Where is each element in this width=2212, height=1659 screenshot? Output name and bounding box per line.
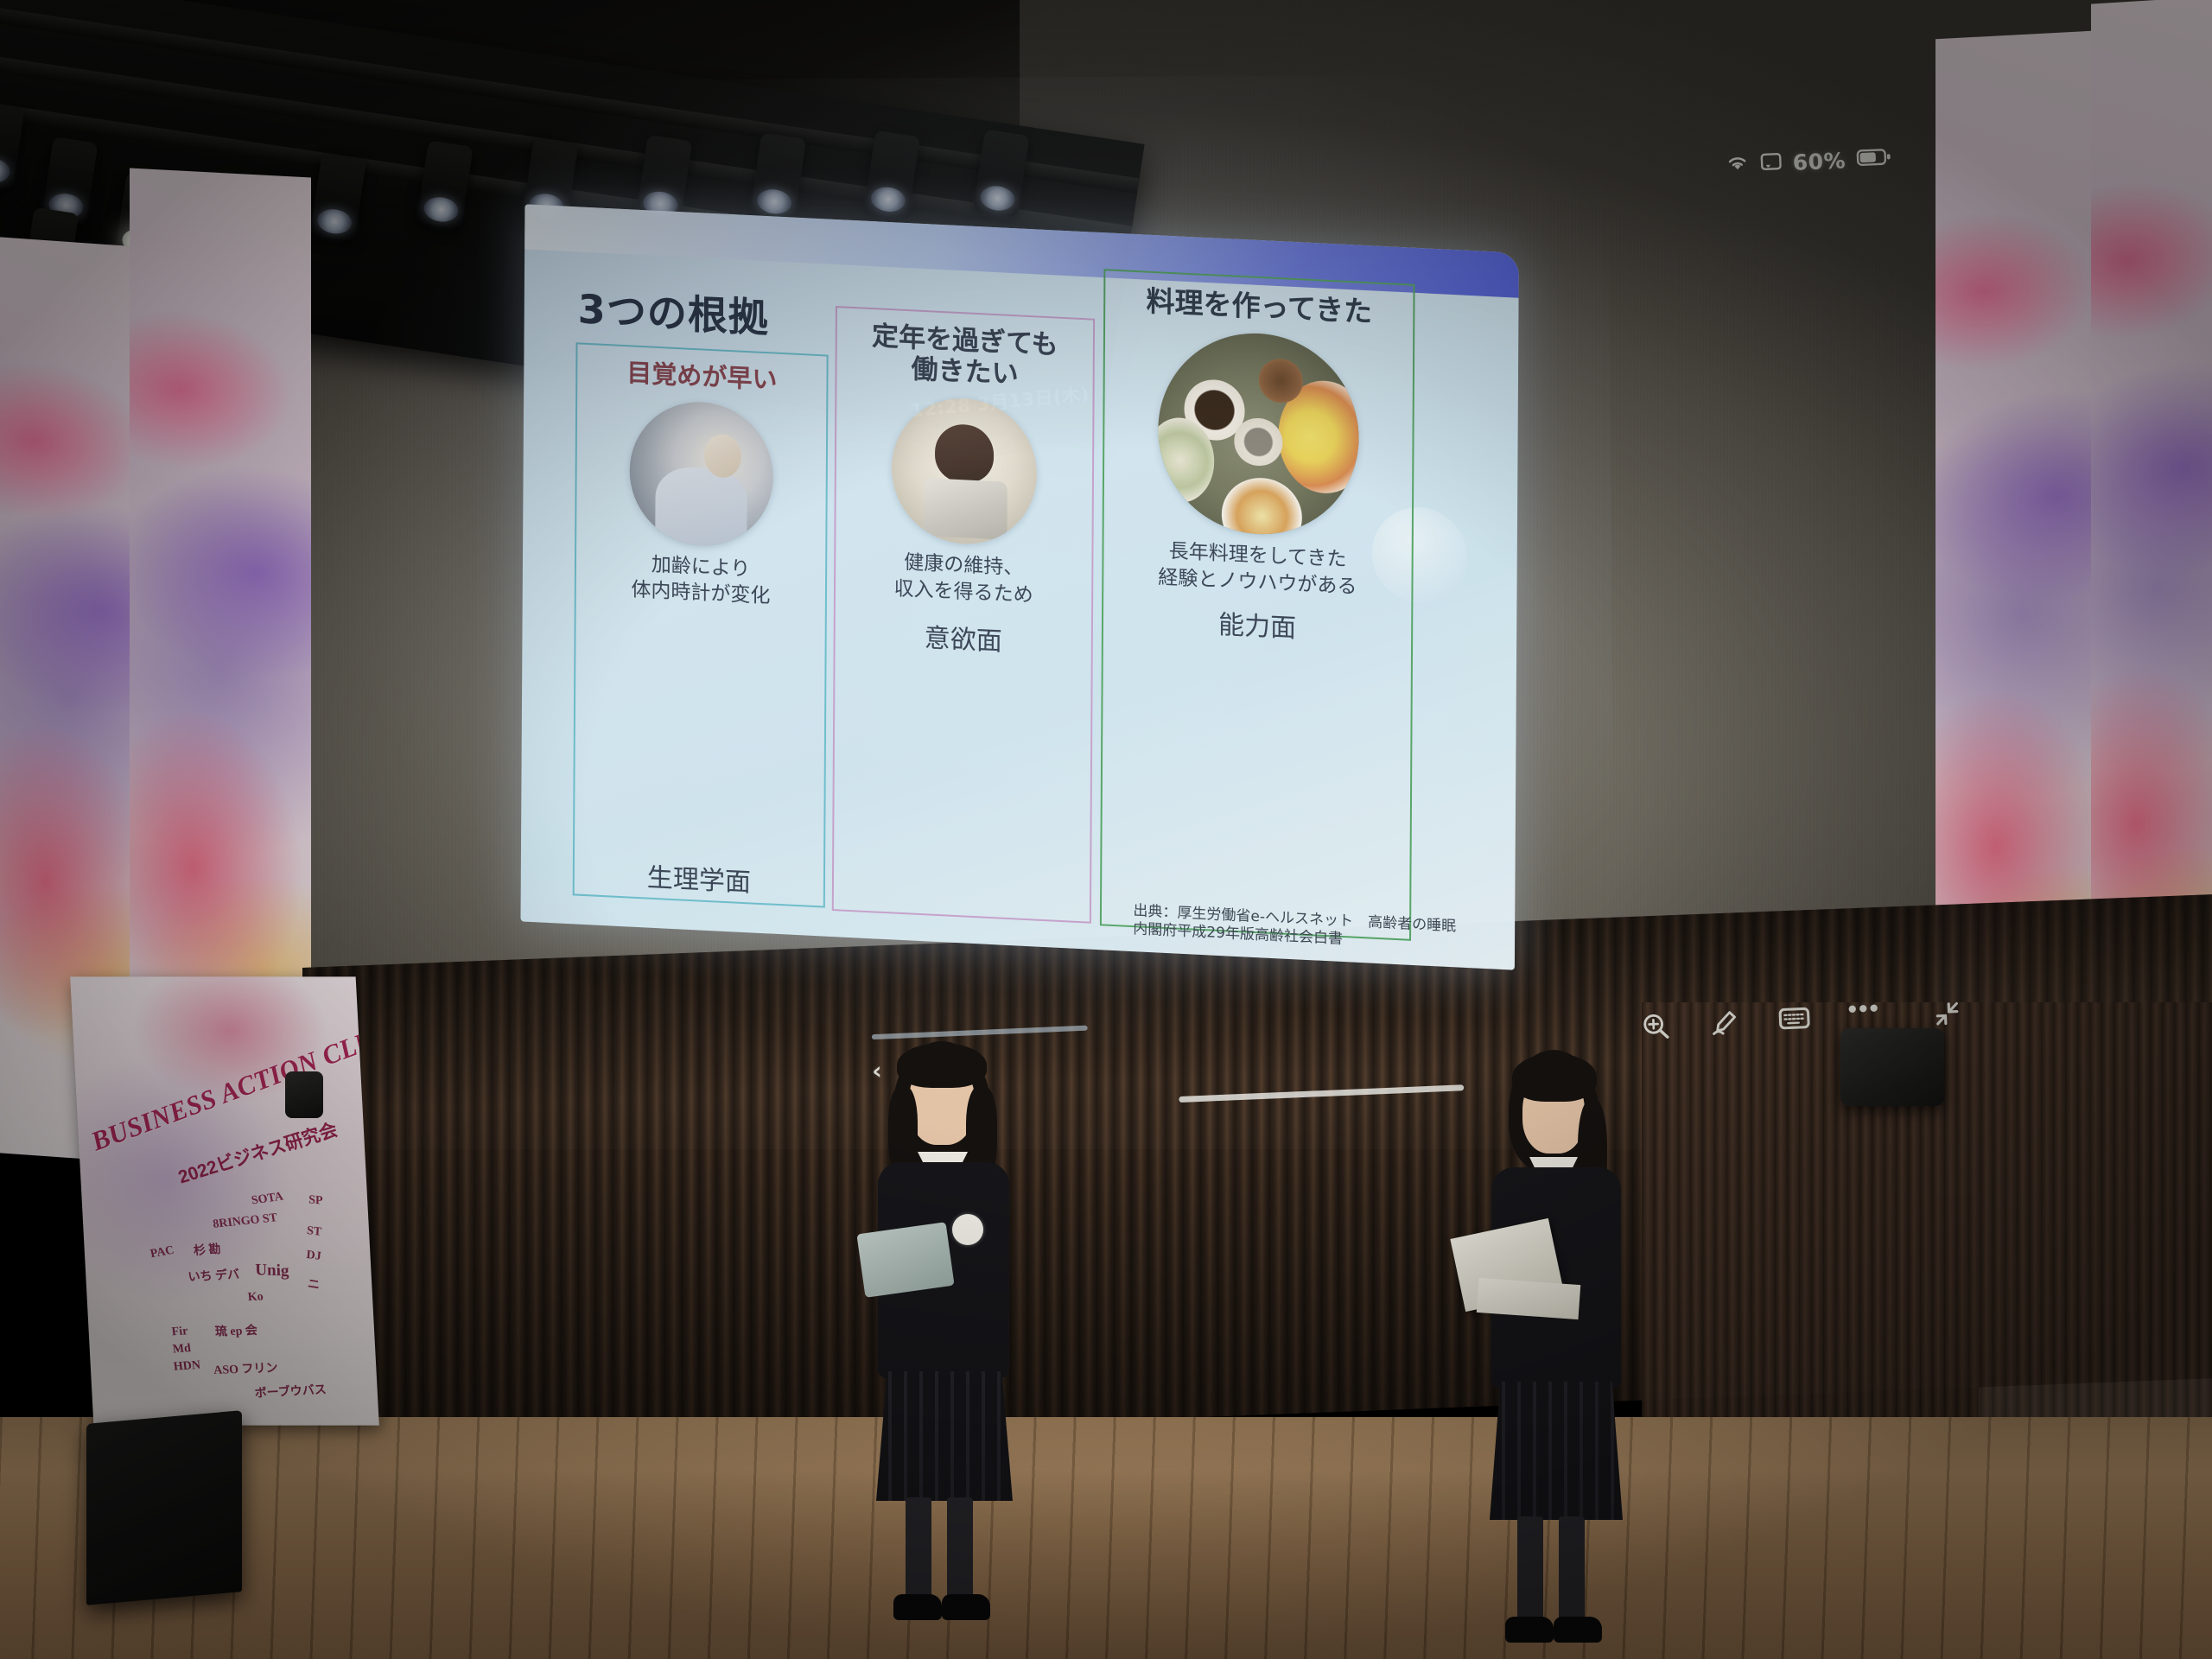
- zoom-in-icon[interactable]: [1640, 1011, 1670, 1041]
- column-heading: 定年を過ぎても 働きたい: [872, 321, 1058, 392]
- presenter-skirt: [1490, 1382, 1623, 1520]
- breakfast-table-photo: [1158, 329, 1359, 539]
- banner-signature: PAC: [149, 1244, 176, 1262]
- column-caption: 加齢により 体内時計が変化: [631, 550, 770, 611]
- battery-icon: [1856, 146, 1891, 173]
- banner-signature: Md: [172, 1342, 192, 1357]
- presenter-corsage: [952, 1214, 983, 1245]
- woman-with-laptop-photo: [891, 395, 1037, 547]
- banner-signature: ASO フリン: [213, 1358, 278, 1378]
- column-category: 生理学面: [647, 856, 751, 899]
- stage-speaker: [1840, 1028, 1944, 1106]
- presenter-leg: [1517, 1516, 1543, 1625]
- battery-percent-label: 60%: [1792, 148, 1847, 175]
- microphone-base: [285, 1071, 323, 1118]
- column-heading: 料理を作ってきた: [1146, 285, 1372, 329]
- presenter-bangs: [897, 1043, 987, 1088]
- column-heading: 目覚めが早い: [626, 359, 777, 395]
- presenter-left: [855, 1041, 1028, 1637]
- club-signature-banner: BUSINESS ACTION CLUB 2022ビジネス研究会 SOTA 8R…: [70, 976, 379, 1425]
- presenter-shoe: [1554, 1617, 1602, 1643]
- stage-floor: [0, 1417, 2212, 1659]
- presenter-shoe: [1505, 1617, 1554, 1643]
- presenter-script-papers: [1477, 1278, 1581, 1319]
- stage-light: [0, 101, 25, 190]
- banner-signature: SOTA: [251, 1191, 285, 1209]
- presenter-right: [1469, 1050, 1642, 1659]
- projection-screen: 60% 12:28 3月13日(木) 3つの根拠 目覚めが早い: [346, 99, 1580, 1033]
- keyboard-icon[interactable]: [1778, 1005, 1808, 1035]
- presentation-slide[interactable]: 3つの根拠 目覚めが早い 加齢により 体内時計が変化 生理学面 定年を過ぎても: [520, 204, 1518, 969]
- wifi-icon: [1725, 152, 1750, 178]
- presenter-leg: [906, 1497, 931, 1603]
- banner-signature: SP: [308, 1193, 323, 1208]
- slide-column-motivation: 定年を過ぎても 働きたい 健康の維持、 収入を得るため 意欲面: [832, 306, 1095, 924]
- elderly-person-in-bed-photo: [629, 398, 773, 549]
- slide-columns: 目覚めが早い 加齢により 体内時計が変化 生理学面 定年を過ぎても 働きたい: [573, 226, 1476, 952]
- presenter-shoe: [942, 1594, 990, 1620]
- annotate-pen-icon[interactable]: [1709, 1007, 1739, 1038]
- banner-signature: 琉 ep 会: [214, 1321, 258, 1340]
- collapse-icon[interactable]: [1932, 998, 1962, 1028]
- slide-column-physiological: 目覚めが早い 加齢により 体内時計が変化 生理学面: [573, 342, 829, 907]
- presenter-shoe: [893, 1594, 942, 1620]
- column-category: 能力面: [1218, 603, 1296, 645]
- slide-column-ability: 料理を作ってきた 長年料理をしてきた 経験とノウハウがある 能力面: [1100, 269, 1415, 941]
- column-category: 意欲面: [925, 616, 1002, 658]
- banner-signature: ST: [307, 1224, 322, 1240]
- presenter-leg: [947, 1497, 973, 1603]
- column-caption: 長年料理をしてきた 経験とノウハウがある: [1158, 538, 1357, 601]
- presenter-skirt: [876, 1371, 1013, 1501]
- banner-signature: 杉 勘: [193, 1240, 222, 1259]
- banner-signature: ニ: [307, 1274, 321, 1294]
- column-caption: 健康の維持、 収入を得るため: [893, 549, 1033, 609]
- presenter-bangs: [1512, 1053, 1597, 1102]
- presenter-leg: [1559, 1516, 1585, 1625]
- cast-icon: [1760, 150, 1782, 176]
- banner-signature: HDN: [173, 1359, 201, 1375]
- scene-root: BUSINESS ACTION CLUB 2022ビジネス研究会 SOTA 8R…: [0, 0, 2212, 1659]
- banner-signature: Ko: [247, 1291, 264, 1306]
- banner-signature: DJ: [306, 1249, 322, 1264]
- banner-signature: ボーブウバス: [254, 1381, 327, 1402]
- banner-signature: Fir: [171, 1325, 189, 1339]
- stage-floor-monitor: [86, 1410, 242, 1605]
- presenter-tablet: [856, 1222, 954, 1298]
- banner-signature: 8RINGO ST: [212, 1211, 278, 1232]
- banner-signature: いち デバ: [188, 1265, 240, 1285]
- banner-signature: Unig: [255, 1261, 289, 1281]
